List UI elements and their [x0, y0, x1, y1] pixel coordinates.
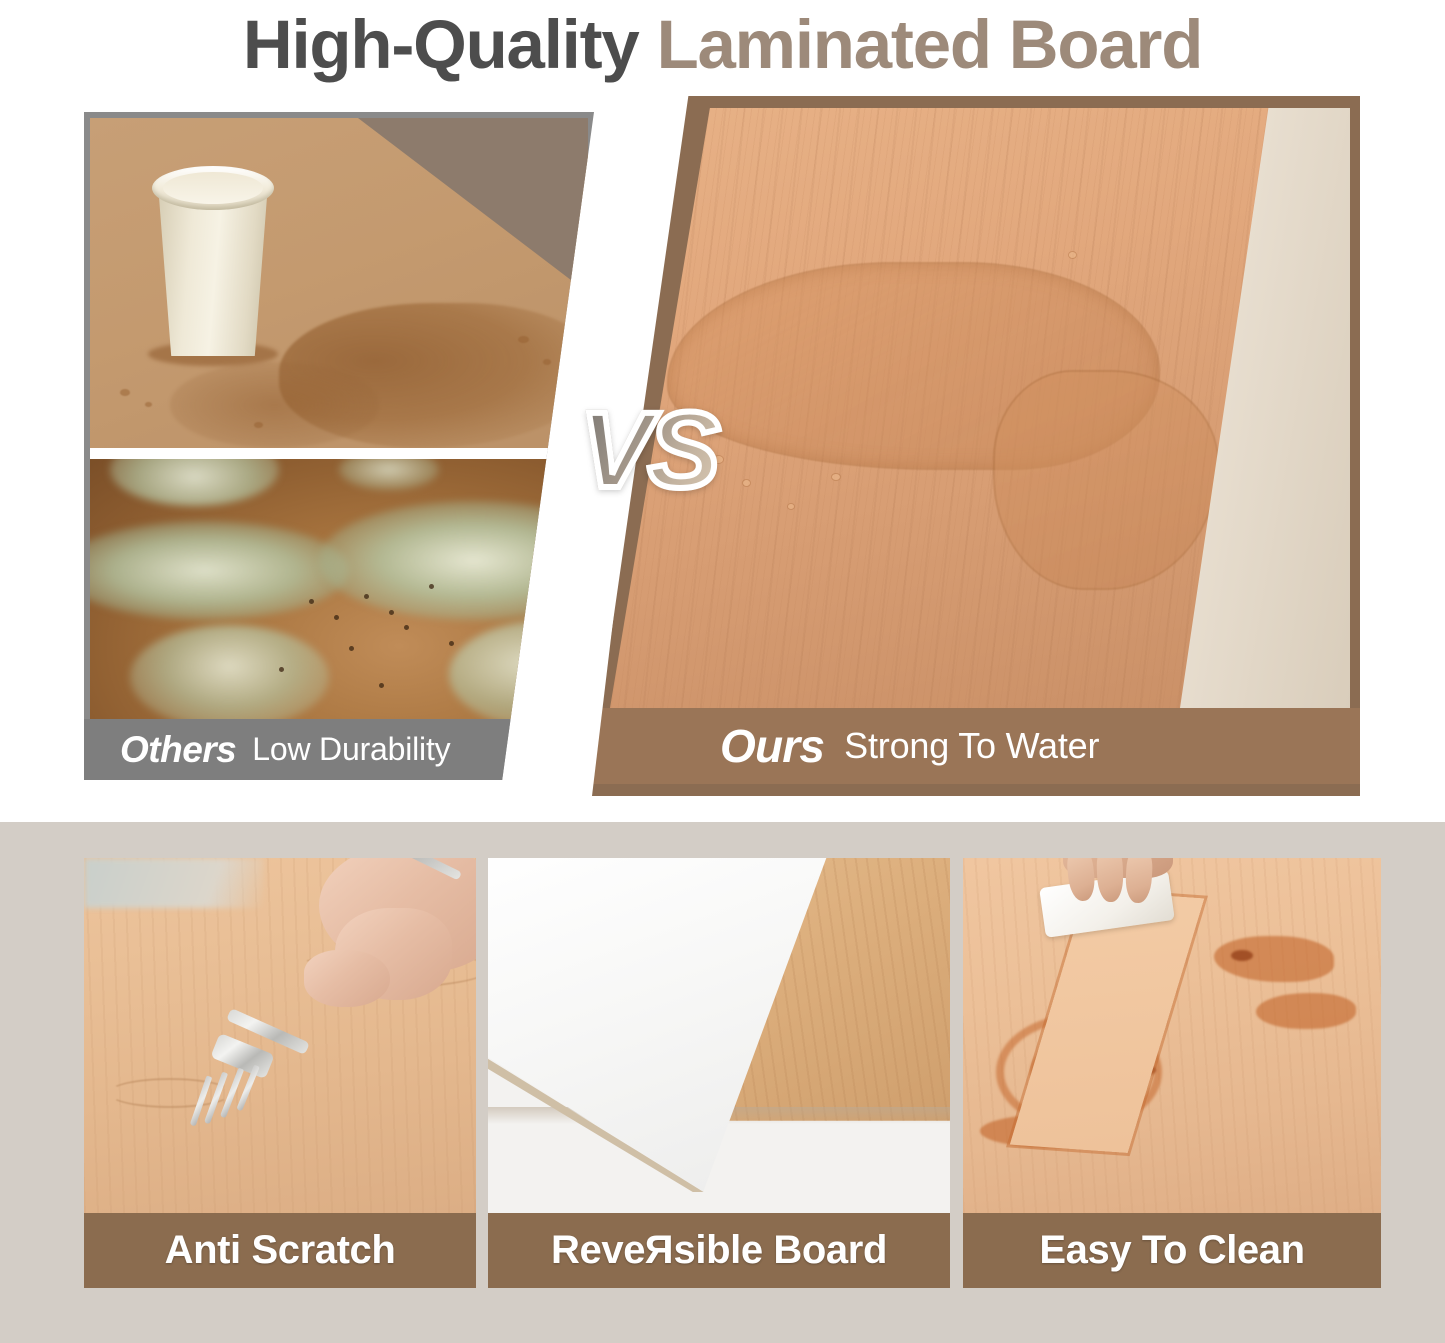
mold-spore-spot: [309, 599, 314, 604]
feature-card-easy-to-clean: Easy To Clean: [963, 858, 1381, 1288]
mold-patch: [110, 459, 279, 506]
mirrored-r-glyph: R: [645, 1228, 674, 1273]
mold-spore-spot: [349, 646, 354, 651]
liquid-droplet: [518, 336, 529, 343]
others-mold-photo: [90, 459, 588, 719]
photo-divider: [90, 448, 588, 459]
feature-label-text: Easy To Clean: [1039, 1228, 1304, 1273]
page-title-part-accent: Laminated Board: [657, 6, 1203, 83]
reversible-board-photo: [488, 858, 950, 1213]
background-shadow: [358, 118, 588, 293]
feature-card-label: Anti Scratch: [84, 1213, 476, 1288]
others-spill-photo: [90, 118, 588, 448]
liquid-droplet: [145, 402, 152, 407]
ours-brand-label: Ours: [720, 719, 824, 773]
feature-card-label: Easy To Clean: [963, 1213, 1381, 1288]
feature-label-text-post: sible Board: [674, 1228, 887, 1273]
mold-spore-spot: [429, 584, 434, 589]
ours-tagline: Strong To Water: [844, 725, 1099, 767]
mold-spore-spot: [379, 683, 384, 688]
easy-to-clean-photo: [963, 858, 1381, 1213]
liquid-droplet: [120, 389, 130, 396]
feature-label-text: Anti Scratch: [165, 1228, 396, 1273]
sauce-smear: [1256, 993, 1356, 1029]
page-title-part-primary: High-Quality: [243, 6, 657, 83]
sauce-chunk: [1231, 950, 1253, 961]
others-tagline: Low Durability: [252, 731, 450, 768]
mold-spore-spot: [334, 615, 339, 620]
page-title: High-Quality Laminated Board: [0, 2, 1445, 88]
water-bead: [832, 474, 840, 480]
anti-scratch-photo: [84, 858, 476, 1213]
ours-label-bar: Ours Strong To Water: [588, 708, 1360, 784]
cup-interior: [163, 172, 263, 204]
spilled-liquid-puddle-secondary: [170, 362, 379, 448]
mold-spore-spot: [449, 641, 454, 646]
comparison-section: Others Low Durability Ours Stro: [0, 96, 1445, 796]
feature-card-reversible-board: ReveRsible Board: [488, 858, 950, 1288]
vs-badge: VS: [580, 396, 716, 504]
panel-scene: [488, 858, 950, 1213]
product-infographic: High-Quality Laminated Board: [0, 0, 1445, 1343]
feature-card-label: ReveRsible Board: [488, 1213, 950, 1288]
others-panel: Others Low Durability: [84, 112, 594, 780]
mold-patch: [90, 521, 349, 620]
water-bead: [788, 504, 794, 509]
liquid-droplet: [254, 422, 263, 428]
index-finger: [304, 950, 390, 1007]
feature-card-anti-scratch: Anti Scratch: [84, 858, 476, 1288]
mold-spore-spot: [404, 625, 409, 630]
mold-patch: [130, 625, 329, 719]
paper-cup: [152, 166, 274, 359]
ours-water-photo: [610, 108, 1350, 708]
mold-patch: [319, 501, 588, 621]
features-section: Anti Scratch ReveRsible Board: [0, 822, 1445, 1343]
feature-label-text-pre: Reve: [551, 1228, 645, 1273]
water-bead: [1069, 252, 1076, 258]
mold-patch: [339, 459, 439, 490]
liquid-droplet: [543, 359, 551, 365]
background-blur: [84, 858, 264, 908]
mold-spore-spot: [389, 610, 394, 615]
others-brand-label: Others: [120, 729, 236, 771]
others-label-bar: Others Low Durability: [84, 719, 594, 780]
